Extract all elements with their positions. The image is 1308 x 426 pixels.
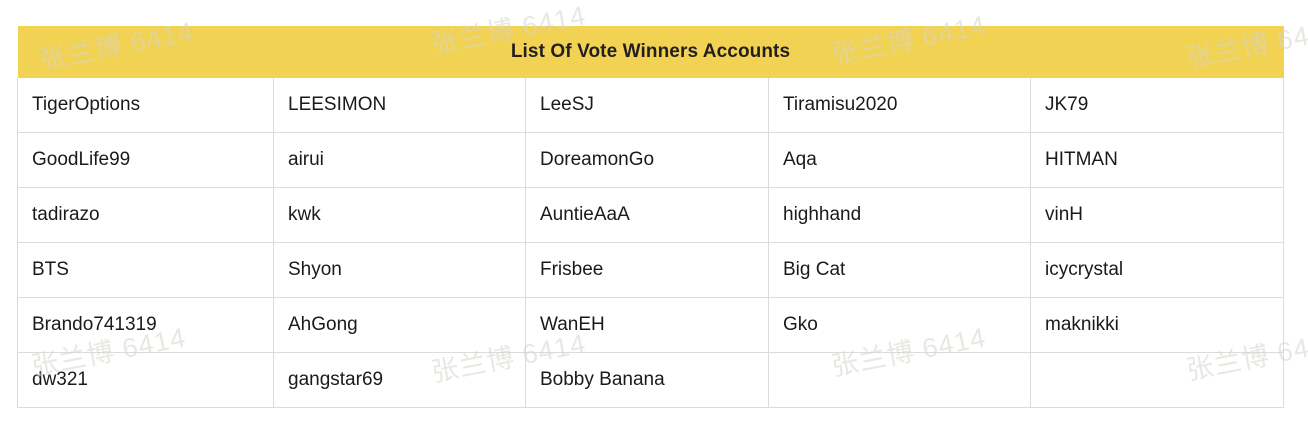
empty-cell [1031, 353, 1284, 408]
account-name-cell: Aqa [769, 133, 1031, 188]
table-row: Brando741319AhGongWanEHGkomaknikki [18, 298, 1284, 353]
account-name-cell: DoreamonGo [526, 133, 769, 188]
account-name-cell: LeeSJ [526, 78, 769, 133]
table-title-row: List Of Vote Winners Accounts [18, 26, 1284, 78]
table-row: tadirazokwkAuntieAaAhighhandvinH [18, 188, 1284, 243]
table-title: List Of Vote Winners Accounts [18, 26, 1284, 78]
account-name-cell: dw321 [18, 353, 274, 408]
table-body: TigerOptionsLEESIMONLeeSJTiramisu2020JK7… [18, 78, 1284, 408]
account-name-cell: icycrystal [1031, 243, 1284, 298]
table-row: GoodLife99airuiDoreamonGoAqaHITMAN [18, 133, 1284, 188]
account-name-cell: AhGong [274, 298, 526, 353]
account-name-cell: tadirazo [18, 188, 274, 243]
account-name-cell: Brando741319 [18, 298, 274, 353]
empty-cell [769, 353, 1031, 408]
account-name-cell: gangstar69 [274, 353, 526, 408]
account-name-cell: Tiramisu2020 [769, 78, 1031, 133]
account-name-cell: Gko [769, 298, 1031, 353]
account-name-cell: vinH [1031, 188, 1284, 243]
account-name-cell: kwk [274, 188, 526, 243]
account-name-cell: airui [274, 133, 526, 188]
account-name-cell: JK79 [1031, 78, 1284, 133]
table-row: BTSShyonFrisbeeBig Caticycrystal [18, 243, 1284, 298]
account-name-cell: WanEH [526, 298, 769, 353]
account-name-cell: AuntieAaA [526, 188, 769, 243]
account-name-cell: Shyon [274, 243, 526, 298]
account-name-cell: Frisbee [526, 243, 769, 298]
vote-winners-table: List Of Vote Winners Accounts TigerOptio… [17, 26, 1284, 408]
account-name-cell: Bobby Banana [526, 353, 769, 408]
account-name-cell: Big Cat [769, 243, 1031, 298]
table-header: List Of Vote Winners Accounts [18, 26, 1284, 78]
table-row: dw321gangstar69Bobby Banana [18, 353, 1284, 408]
account-name-cell: HITMAN [1031, 133, 1284, 188]
account-name-cell: LEESIMON [274, 78, 526, 133]
account-name-cell: TigerOptions [18, 78, 274, 133]
account-name-cell: highhand [769, 188, 1031, 243]
account-name-cell: maknikki [1031, 298, 1284, 353]
account-name-cell: BTS [18, 243, 274, 298]
table-row: TigerOptionsLEESIMONLeeSJTiramisu2020JK7… [18, 78, 1284, 133]
winners-table-container: List Of Vote Winners Accounts TigerOptio… [17, 26, 1283, 408]
account-name-cell: GoodLife99 [18, 133, 274, 188]
